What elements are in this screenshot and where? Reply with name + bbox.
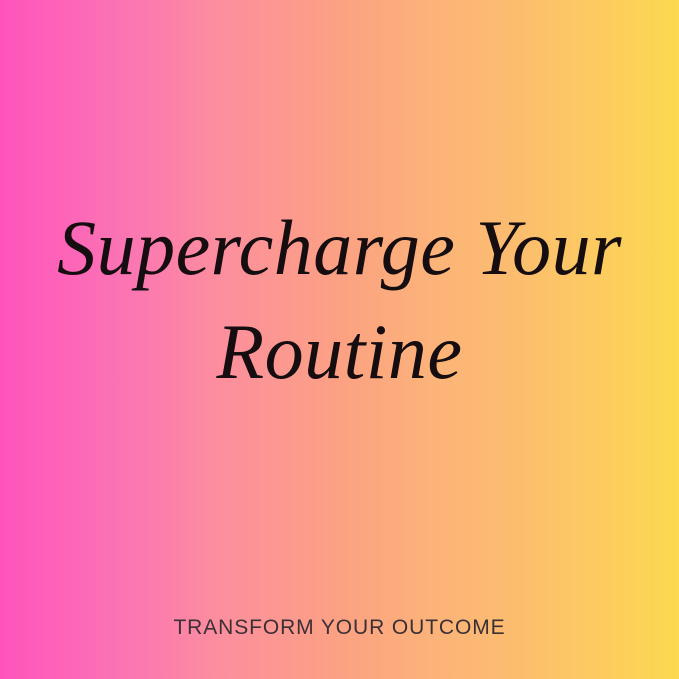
promo-poster: Supercharge Your Routine TRANSFORM YOUR … xyxy=(0,0,679,679)
tagline-text: TRANSFORM YOUR OUTCOME xyxy=(173,615,505,641)
tagline-container: TRANSFORM YOUR OUTCOME xyxy=(0,615,679,641)
headline: Supercharge Your Routine xyxy=(0,196,679,404)
headline-line-1: Supercharge Your xyxy=(24,196,655,300)
headline-line-2: Routine xyxy=(24,300,655,404)
